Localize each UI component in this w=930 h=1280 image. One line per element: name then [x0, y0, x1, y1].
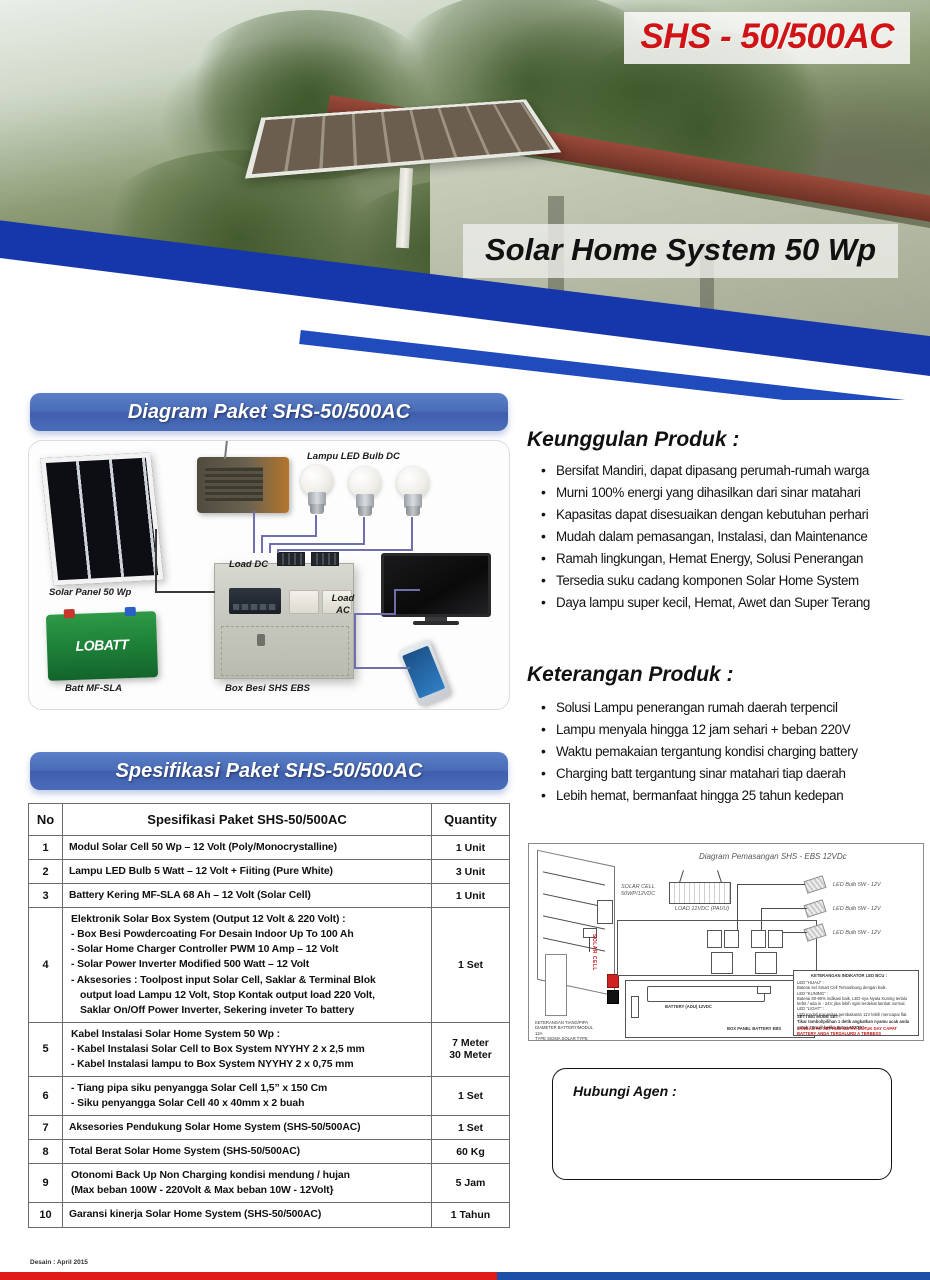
list-item: Daya lampu super kecil, Hemat, Awet dan …: [540, 595, 930, 610]
table-row: 1 Modul Solar Cell 50 Wp – 12 Volt (Poly…: [29, 836, 510, 860]
table-row: 7 Aksesories Pendukung Solar Home System…: [29, 1116, 510, 1140]
cell-no: 9: [29, 1164, 63, 1203]
desc-line: - Siku penyangga Solar Cell 40 x 40mm x …: [69, 1096, 425, 1111]
charge-controller-icon: [229, 588, 281, 614]
section-header-spec: Spesifikasi Paket SHS-50/500AC: [30, 752, 508, 790]
table-row: 8 Total Berat Solar Home System (SHS-50/…: [29, 1140, 510, 1164]
cell-desc: Battery Kering MF-SLA 68 Ah – 12 Volt (S…: [63, 884, 432, 908]
tv-foot: [413, 621, 459, 625]
breaker-block: [724, 930, 739, 948]
led-bulb-icon: [299, 465, 335, 515]
list-item: Murni 100% energi yang dihasilkan dari s…: [540, 485, 930, 500]
desc-line: Aksesories Pendukung Solar Home System (…: [69, 1122, 361, 1133]
wire-box-to-tv: [394, 589, 396, 615]
cell-no: 4: [29, 908, 63, 1023]
fuse-block: [711, 952, 733, 974]
cell-desc: Aksesories Pendukung Solar Home System (…: [63, 1116, 432, 1140]
cell-no: 10: [29, 1203, 63, 1227]
cell-no: 6: [29, 1077, 63, 1116]
table-row: 2 Lampu LED Bulb 5 Watt – 12 Volt + Fiit…: [29, 860, 510, 884]
list-item: Solusi Lampu penerangan rumah daerah ter…: [540, 700, 930, 715]
box-door: [221, 626, 349, 676]
wiring-line: [783, 932, 807, 933]
desc-line: Total Berat Solar Home System (SHS-50/50…: [69, 1146, 300, 1157]
desc-line: - Solar Home Charger Controller PWM 10 A…: [69, 942, 425, 957]
desc-line: - Kabel Instalasi Solar Cell to Box Syst…: [69, 1042, 425, 1057]
breaker-block: [707, 930, 722, 948]
radio-icon: [197, 457, 289, 513]
desc-line: (Max beban 100W - 220Volt & Max beban 10…: [69, 1183, 425, 1198]
wiring-notes-body: LED "HIJAU" :Baterai sel Smart Cell Ters…: [797, 980, 915, 1017]
wire-bulb-2: [363, 517, 365, 545]
wiring-diagram-title: Diagram Pemasangan SHS - EBS 12VDc: [699, 852, 847, 861]
tv-screen: [381, 553, 491, 617]
breaker-block: [751, 930, 766, 948]
list-item: Lebih hemat, bermanfaat hingga 25 tahun …: [540, 788, 930, 803]
list-item: Waktu pemakaian tergantung kondisi charg…: [540, 744, 930, 759]
wiring-line: [761, 908, 807, 909]
wire-radio: [253, 511, 255, 553]
power-socket-icon: [289, 590, 319, 614]
list-item: Tersedia suku cadang komponen Solar Home…: [540, 573, 930, 588]
cell-no: 2: [29, 860, 63, 884]
page-title: Solar Home System 50 Wp: [463, 224, 898, 278]
diagram-label-load-dc: Load DC: [229, 559, 268, 570]
diagram-label-box: Box Besi SHS EBS: [225, 683, 310, 694]
cell-qty: 1 Tahun: [432, 1203, 510, 1227]
specification-table: No Spesifikasi Paket SHS-50/500AC Quanti…: [28, 803, 510, 1228]
column-header-desc: Spesifikasi Paket SHS-50/500AC: [63, 804, 432, 836]
footer-note: Desain : April 2015: [30, 1259, 88, 1266]
battery-terminal: [631, 996, 639, 1018]
wiring-label-battery: BATTERY (ADU) 12VDC: [665, 1004, 712, 1009]
wire-bulb-1: [261, 535, 317, 537]
cell-no: 5: [29, 1022, 63, 1076]
cell-qty: 1 Set: [432, 1077, 510, 1116]
list-item: Lampu menyala hingga 12 jam sehari + beb…: [540, 722, 930, 737]
section-header-diagram: Diagram Paket SHS-50/500AC: [30, 393, 508, 431]
desc-line: Battery Kering MF-SLA 68 Ah – 12 Volt (S…: [69, 890, 311, 901]
wiring-notes-warning: JANGAN AC SETTING SUPAY, UNTUK DAY CAPAT…: [797, 1026, 915, 1037]
desc-line: Elektronik Solar Box System (Output 12 V…: [69, 912, 425, 927]
wiring-note-left: KETERANGAN TIANG/PIPADIAMETER BATTERY/MO…: [535, 1020, 593, 1041]
list-item: Bersifat Mandiri, dapat dipasang perumah…: [540, 463, 930, 478]
advantages-list: Bersifat Mandiri, dapat dipasang perumah…: [540, 463, 930, 617]
breaker-block: [768, 930, 783, 948]
wiring-notes-title: KETERANGAN INDIKATOR LED BCU :: [811, 973, 887, 978]
wiring-line: [737, 884, 738, 930]
terminal-red: [607, 974, 619, 988]
desc-line: Saklar On/Off Power Inverter, Sekering i…: [69, 1003, 425, 1018]
cell-qty: 5 Jam: [432, 1164, 510, 1203]
wiring-line: [679, 870, 684, 883]
desc-line: Lampu LED Bulb 5 Watt – 12 Volt + Fiitin…: [69, 866, 333, 877]
battery-outline: [647, 986, 765, 1002]
led-bulb-icon: [347, 467, 383, 517]
cell-qty: 60 Kg: [432, 1140, 510, 1164]
wire-bulb-2: [269, 543, 365, 545]
desc-line: Modul Solar Cell 50 Wp – 12 Volt (Poly/M…: [69, 842, 337, 853]
cell-desc: Lampu LED Bulb 5 Watt – 12 Volt + Fiitin…: [63, 860, 432, 884]
wire-bulb-1: [315, 515, 317, 537]
wiring-vertical-note: SOLAR CELL: [591, 934, 597, 971]
battery-terminal-positive: [64, 609, 75, 618]
wiring-line: [761, 908, 762, 930]
wire-terminal-riser: [261, 535, 263, 553]
agent-contact-label: Hubungi Agen :: [573, 1083, 677, 1099]
diagram-label-lamp-group: Lampu LED Bulb DC: [307, 451, 400, 462]
hero-banner: SHS - 50/500AC Solar Home System 50 Wp: [0, 0, 930, 400]
pole-outline: [545, 954, 567, 1016]
battery-brand-label: LOBATT: [54, 635, 150, 654]
desc-line: Kabel Instalasi Solar Home System 50 Wp …: [69, 1027, 425, 1042]
smartphone-icon: [397, 639, 451, 707]
bulb-base: [406, 506, 420, 516]
desc-line: - Solar Power Inverter Modified 500 Watt…: [69, 957, 425, 972]
wiring-line: [717, 870, 722, 883]
table-row: 3 Battery Kering MF-SLA 68 Ah – 12 Volt …: [29, 884, 510, 908]
wire-box-to-phone: [354, 613, 356, 669]
wire-bulb-3: [277, 549, 413, 551]
cell-qty: 1 Unit: [432, 884, 510, 908]
cell-desc: Garansi kinerja Solar Home System (SHS-5…: [63, 1203, 432, 1227]
table-body: 1 Modul Solar Cell 50 Wp – 12 Volt (Poly…: [29, 836, 510, 1228]
wire-box-to-tv: [394, 589, 420, 591]
footer-bar-blue: [497, 1272, 930, 1280]
cell-desc: Total Berat Solar Home System (SHS-50/50…: [63, 1140, 432, 1164]
bulb-base: [358, 506, 372, 516]
terminal-block-icon: [311, 552, 339, 566]
battery-icon: LOBATT: [46, 611, 158, 681]
wire-bulb-3: [411, 517, 413, 551]
solar-panel-icon: [40, 452, 163, 585]
table-row: 9 Otonomi Back Up Non Charging kondisi m…: [29, 1164, 510, 1203]
product-code-badge: SHS - 50/500AC: [624, 12, 910, 64]
load-dc-terminal: [669, 882, 731, 904]
led-lamp-icon: [803, 875, 826, 894]
bulb-base: [310, 504, 324, 514]
terminal-block-icon: [277, 552, 305, 566]
column-header-qty: Quantity: [432, 804, 510, 836]
diagram-label-battery: Batt MF-SLA: [65, 683, 122, 694]
wire-box-to-tv: [354, 613, 396, 615]
led-bulb-icon: [395, 467, 431, 517]
wiring-label-load-dc: LOAD 12VDC (PAUU): [671, 906, 733, 913]
desc-line: output load Lampu 12 Volt, Stop Kontak o…: [69, 988, 425, 1003]
junction-box: [597, 900, 613, 924]
table-row: 5 Kabel Instalasi Solar Home System 50 W…: [29, 1022, 510, 1076]
column-header-no: No: [29, 804, 63, 836]
solar-box-icon: [214, 563, 354, 679]
wiring-line: [737, 884, 805, 885]
wire-terminal-riser: [269, 543, 271, 553]
wire-box-to-phone: [354, 667, 410, 669]
cell-qty: 1 Set: [432, 908, 510, 1023]
cell-desc: Otonomi Back Up Non Charging kondisi men…: [63, 1164, 432, 1203]
wire-terminal-riser: [277, 549, 279, 553]
description-heading: Keterangan Produk :: [527, 663, 734, 687]
wiring-label-led-3: LED Bulb 5W - 12V: [833, 930, 881, 936]
cell-no: 3: [29, 884, 63, 908]
cell-qty: 3 Unit: [432, 860, 510, 884]
description-list: Solusi Lampu penerangan rumah daerah ter…: [540, 700, 930, 810]
desc-line: Otonomi Back Up Non Charging kondisi men…: [69, 1168, 425, 1183]
desc-line: - Kabel Instalasi lampu to Box System NY…: [69, 1057, 425, 1072]
table-header-row: No Spesifikasi Paket SHS-50/500AC Quanti…: [29, 804, 510, 836]
cell-desc: Modul Solar Cell 50 Wp – 12 Volt (Poly/M…: [63, 836, 432, 860]
cell-desc: - Tiang pipa siku penyangga Solar Cell 1…: [63, 1077, 432, 1116]
desc-line: - Box Besi Powdercoating For Desain Indo…: [69, 927, 425, 942]
wiring-label-led-1: LED Bulb 5W - 12V: [833, 882, 881, 888]
desc-line: Garansi kinerja Solar Home System (SHS-5…: [69, 1209, 321, 1220]
list-item: Kapasitas dapat disesuaikan dengan kebut…: [540, 507, 930, 522]
terminal-black: [607, 990, 619, 1004]
box-lock-icon: [257, 634, 265, 646]
wiring-label-solar-cell: SOLAR CELL 50WP/12VDC: [621, 884, 661, 897]
wire-panel-to-box: [155, 529, 157, 591]
cell-no: 7: [29, 1116, 63, 1140]
desc-line: - Aksesories : Toolpost input Solar Cell…: [69, 973, 425, 988]
wiring-diagram: Diagram Pemasangan SHS - EBS 12VDc SOLAR…: [528, 843, 924, 1041]
table-row: 10 Garansi kinerja Solar Home System (SH…: [29, 1203, 510, 1227]
wire-panel-to-box: [155, 591, 215, 593]
battery-terminal: [757, 986, 771, 994]
list-item: Mudah dalam pemasangan, Instalasi, dan M…: [540, 529, 930, 544]
cell-no: 1: [29, 836, 63, 860]
wiring-label-led-2: LED Bulb 5W - 12V: [833, 906, 881, 912]
package-diagram: Solar Panel 50 Wp LOBATT Batt MF-SLA Lam…: [28, 440, 510, 710]
diagram-label-load-ac: Load AC: [329, 593, 357, 618]
desc-line: - Tiang pipa siku penyangga Solar Cell 1…: [69, 1081, 425, 1096]
cell-desc: Elektronik Solar Box System (Output 12 V…: [63, 908, 432, 1023]
cell-qty: 1 Set: [432, 1116, 510, 1140]
table-row: 4 Elektronik Solar Box System (Output 12…: [29, 908, 510, 1023]
fuse-block: [755, 952, 777, 974]
footer-bar-red: [0, 1272, 497, 1280]
agent-contact-box[interactable]: Hubungi Agen :: [552, 1068, 892, 1180]
cell-desc: Kabel Instalasi Solar Home System 50 Wp …: [63, 1022, 432, 1076]
cell-no: 8: [29, 1140, 63, 1164]
table-row: 6 - Tiang pipa siku penyangga Solar Cell…: [29, 1077, 510, 1116]
list-item: Ramah lingkungan, Hemat Energy, Solusi P…: [540, 551, 930, 566]
wiring-label-box-panel: BOX PANEL BATTERY EBS: [727, 1026, 781, 1031]
battery-terminal-negative: [125, 607, 136, 616]
list-item: Charging batt tergantung sinar matahari …: [540, 766, 930, 781]
cell-qty: 7 Meter 30 Meter: [432, 1022, 510, 1076]
diagram-label-solar-panel: Solar Panel 50 Wp: [49, 587, 131, 598]
cell-qty: 1 Unit: [432, 836, 510, 860]
advantages-heading: Keunggulan Produk :: [527, 428, 739, 452]
